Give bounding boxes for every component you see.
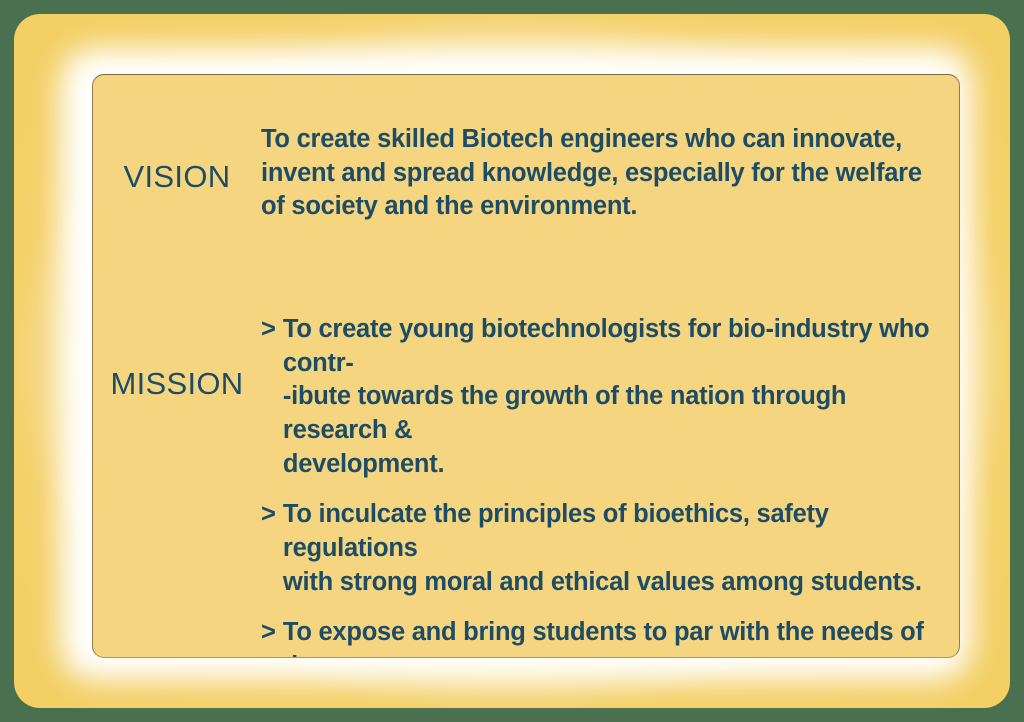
vision-body: To create skilled Biotech engineers who …: [261, 123, 960, 224]
chevron-right-icon: >: [261, 616, 276, 650]
vision-section: VISION To create skilled Biotech enginee…: [93, 123, 960, 224]
mission-label: MISSION: [93, 313, 261, 399]
content-panel: VISION To create skilled Biotech enginee…: [92, 74, 960, 658]
outer-gold-frame: VISION To create skilled Biotech enginee…: [14, 14, 1010, 708]
list-item: > To expose and bring students to par wi…: [261, 616, 951, 658]
mission-item-text: To inculcate the principles of bioethics…: [283, 498, 951, 599]
chevron-right-icon: >: [261, 313, 276, 347]
mission-item-text: To create young biotechnologists for bio…: [283, 313, 951, 481]
list-item: > To create young biotechnologists for b…: [261, 313, 951, 481]
list-item: > To inculcate the principles of bioethi…: [261, 498, 951, 599]
chevron-right-icon: >: [261, 498, 276, 532]
mission-item-text: To expose and bring students to par with…: [283, 616, 951, 658]
vision-label: VISION: [93, 123, 261, 192]
vision-statement: To create skilled Biotech engineers who …: [261, 123, 951, 224]
mission-section: MISSION > To create young biotechnologis…: [93, 313, 960, 658]
vision-label-text: VISION: [93, 123, 261, 192]
mission-body: > To create young biotechnologists for b…: [261, 313, 960, 658]
mission-bullet-list: > To create young biotechnologists for b…: [261, 313, 951, 658]
mission-label-text: MISSION: [93, 313, 261, 399]
